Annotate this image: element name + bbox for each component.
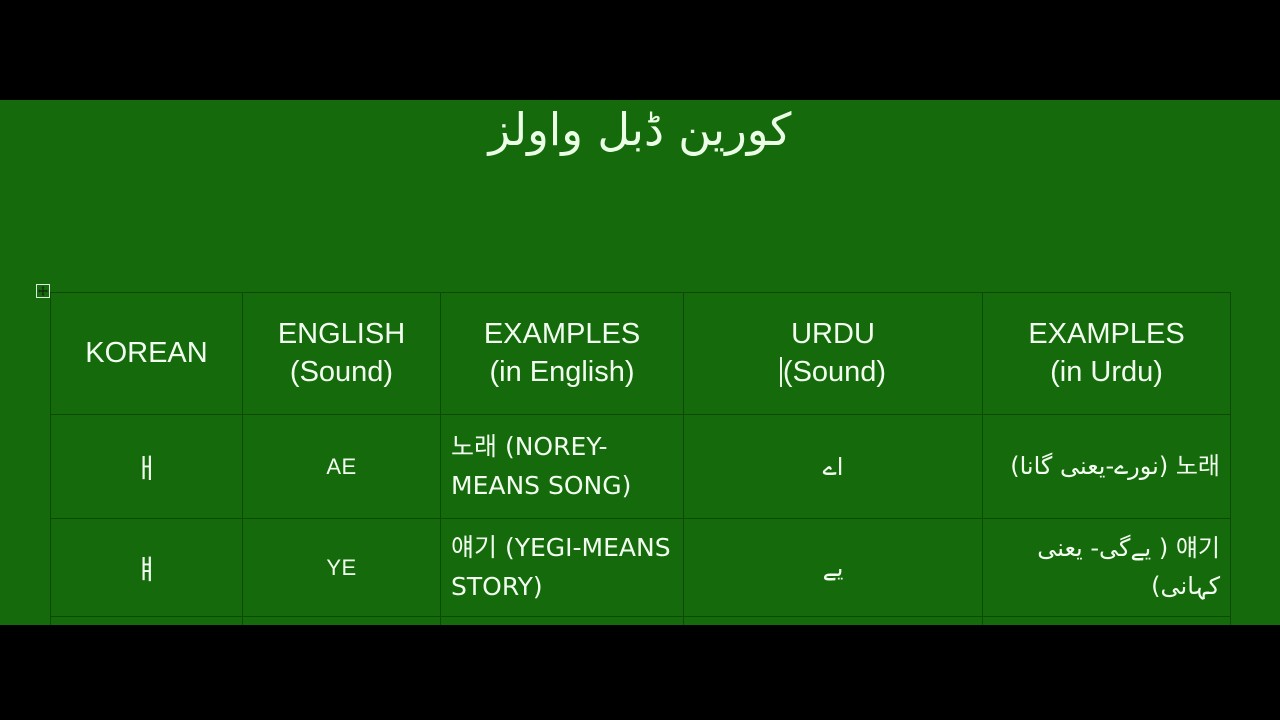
table-move-handle[interactable] (36, 284, 50, 298)
korean-double-vowels-table[interactable]: KOREAN ENGLISH (Sound) EXAMPLES (in Engl… (50, 292, 1231, 625)
move-four-arrows-icon (38, 286, 48, 296)
slide-title: کورین ڈبل واولز (0, 102, 1280, 158)
cell-example-urdu[interactable]: 노래 (نورے-یعنی گانا) (983, 415, 1231, 519)
header-main-examples-english: EXAMPLES (484, 318, 640, 350)
cell-urdu-sound[interactable]: یے (684, 519, 983, 617)
header-cell-urdu[interactable]: URDU (Sound) (684, 293, 983, 415)
cell-urdu-sound[interactable]: اے (684, 617, 983, 626)
table-row: ㅔ AE 제 (JEY-MEANS MY) اے 제 (جے- یعنی میر… (51, 617, 1231, 626)
cell-english-sound[interactable]: YE (243, 519, 441, 617)
header-sub-examples-english: (in English) (451, 354, 673, 391)
header-cell-examples-english[interactable]: EXAMPLES (in English) (441, 293, 684, 415)
presentation-slide: کورین ڈبل واولز KOREAN ENGLISH (Sound) (0, 100, 1280, 625)
cell-example-urdu[interactable]: 제 (جے- یعنی میرا) (983, 617, 1231, 626)
cell-urdu-sound[interactable]: اے (684, 415, 983, 519)
header-cell-examples-urdu[interactable]: EXAMPLES (in Urdu) (983, 293, 1231, 415)
header-main-english: ENGLISH (278, 318, 405, 350)
header-sub-examples-urdu: (in Urdu) (993, 354, 1220, 391)
table-row: ㅐ AE 노래 (NOREY-MEANS SONG) اے 노래 (نورے-ی… (51, 415, 1231, 519)
table-row: ㅒ YE 얘기 (YEGI-MEANS STORY) یے 얘기 ( یےگی-… (51, 519, 1231, 617)
cell-korean[interactable]: ㅒ (51, 519, 243, 617)
header-sub-english: (Sound) (253, 354, 430, 391)
cell-english-sound[interactable]: AE (243, 415, 441, 519)
header-cell-english[interactable]: ENGLISH (Sound) (243, 293, 441, 415)
header-sub-urdu-wrap: (Sound) (694, 354, 972, 391)
text-cursor-caret (780, 357, 782, 387)
header-main-examples-urdu: EXAMPLES (1028, 318, 1184, 350)
cell-korean[interactable]: ㅐ (51, 415, 243, 519)
cell-example-english[interactable]: 제 (JEY-MEANS MY) (441, 617, 684, 626)
header-sub-urdu: (Sound) (783, 356, 886, 388)
header-main-korean: KOREAN (85, 337, 207, 369)
cell-korean[interactable]: ㅔ (51, 617, 243, 626)
letterbox-top (0, 0, 1280, 100)
letterbox-bottom (0, 625, 1280, 720)
header-cell-korean[interactable]: KOREAN (51, 293, 243, 415)
cell-example-english[interactable]: 노래 (NOREY-MEANS SONG) (441, 415, 684, 519)
cell-example-english[interactable]: 얘기 (YEGI-MEANS STORY) (441, 519, 684, 617)
screen: کورین ڈبل واولز KOREAN ENGLISH (Sound) (0, 0, 1280, 720)
table-header-row: KOREAN ENGLISH (Sound) EXAMPLES (in Engl… (51, 293, 1231, 415)
cell-example-urdu[interactable]: 얘기 ( یےگی- یعنی کہانی) (983, 519, 1231, 617)
cell-english-sound[interactable]: AE (243, 617, 441, 626)
header-main-urdu: URDU (791, 318, 875, 350)
